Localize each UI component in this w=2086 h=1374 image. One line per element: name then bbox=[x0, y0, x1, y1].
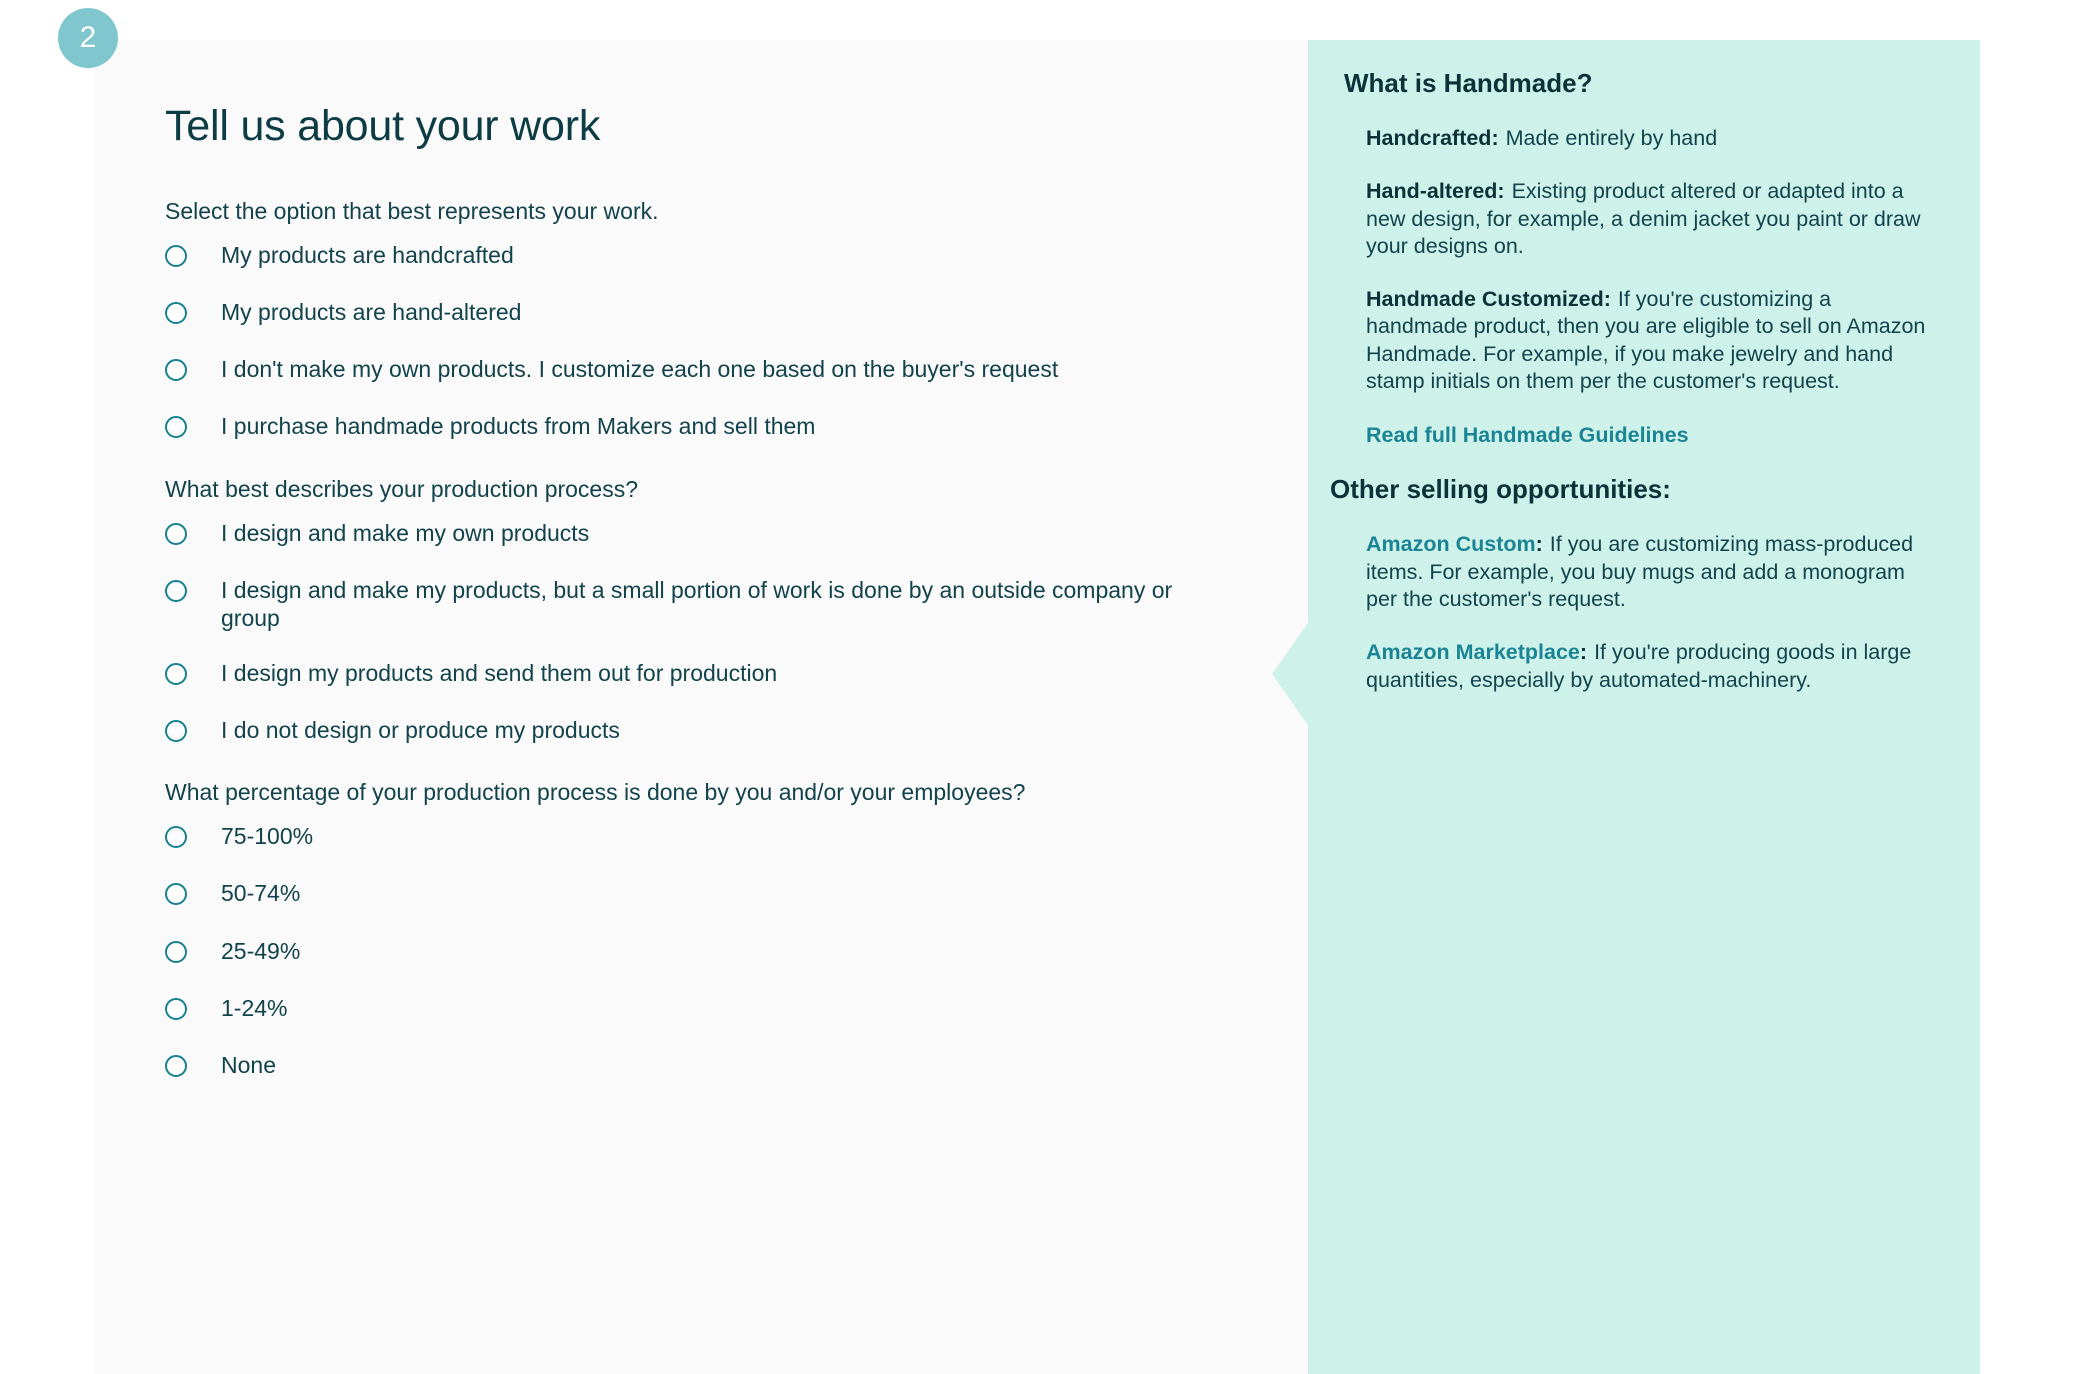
step-number-badge: 2 bbox=[58, 8, 118, 68]
definition-term: Hand-altered: bbox=[1366, 179, 1505, 203]
radio-option-send-out-for-production[interactable]: I design my products and send them out f… bbox=[165, 659, 1308, 687]
radio-option-label: 1-24% bbox=[221, 994, 287, 1022]
radio-option-purchase-from-makers[interactable]: I purchase handmade products from Makers… bbox=[165, 412, 1308, 440]
radio-option-75-100[interactable]: 75-100% bbox=[165, 822, 1308, 850]
radio-option-design-and-make-own[interactable]: I design and make my own products bbox=[165, 519, 1308, 547]
definition-handmade-customized: Handmade Customized:If you're customizin… bbox=[1366, 286, 1926, 395]
radio-option-label: 25-49% bbox=[221, 937, 300, 965]
handmade-guidelines-link[interactable]: Read full Handmade Guidelines bbox=[1366, 423, 1926, 448]
radio-option-outside-company[interactable]: I design and make my products, but a sma… bbox=[165, 576, 1308, 632]
radio-circle-icon[interactable] bbox=[165, 359, 187, 381]
radio-option-label: I do not design or produce my products bbox=[221, 716, 620, 744]
info-panel-heading: What is Handmade? bbox=[1344, 68, 1926, 99]
radio-circle-icon[interactable] bbox=[165, 941, 187, 963]
radio-option-label: None bbox=[221, 1051, 276, 1079]
definition-hand-altered: Hand-altered:Existing product altered or… bbox=[1366, 178, 1926, 260]
other-selling-opportunities-heading: Other selling opportunities: bbox=[1330, 474, 1926, 505]
radio-option-label: I don't make my own products. I customiz… bbox=[221, 355, 1058, 383]
radio-option-none[interactable]: None bbox=[165, 1051, 1308, 1079]
question-label-percentage: What percentage of your production proce… bbox=[165, 779, 1308, 806]
definition-text: Made entirely by hand bbox=[1506, 126, 1718, 150]
radio-circle-icon[interactable] bbox=[165, 1055, 187, 1077]
radio-option-handcrafted[interactable]: My products are handcrafted bbox=[165, 241, 1308, 269]
radio-circle-icon[interactable] bbox=[165, 416, 187, 438]
onboarding-page: Tell us about your work Select the optio… bbox=[0, 0, 2086, 1374]
opportunity-colon: : bbox=[1536, 532, 1543, 556]
radio-option-1-24[interactable]: 1-24% bbox=[165, 994, 1308, 1022]
radio-option-50-74[interactable]: 50-74% bbox=[165, 879, 1308, 907]
radio-option-hand-altered[interactable]: My products are hand-altered bbox=[165, 298, 1308, 326]
opportunity-amazon-marketplace: Amazon Marketplace:If you're producing g… bbox=[1366, 639, 1926, 694]
radio-group-work-type: My products are handcrafted My products … bbox=[165, 241, 1308, 440]
radio-option-label: My products are handcrafted bbox=[221, 241, 514, 269]
radio-circle-icon[interactable] bbox=[165, 826, 187, 848]
radio-option-label: My products are hand-altered bbox=[221, 298, 521, 326]
radio-option-label: I design my products and send them out f… bbox=[221, 659, 777, 687]
radio-option-label: I design and make my products, but a sma… bbox=[221, 576, 1221, 632]
opportunity-colon: : bbox=[1580, 640, 1587, 664]
radio-circle-icon[interactable] bbox=[165, 998, 187, 1020]
callout-pointer-icon bbox=[1272, 620, 1310, 728]
definition-term: Handcrafted: bbox=[1366, 126, 1499, 150]
radio-circle-icon[interactable] bbox=[165, 523, 187, 545]
form-card: Tell us about your work Select the optio… bbox=[95, 40, 1308, 1374]
definition-term: Handmade Customized: bbox=[1366, 287, 1611, 311]
radio-circle-icon[interactable] bbox=[165, 720, 187, 742]
radio-option-label: I purchase handmade products from Makers… bbox=[221, 412, 815, 440]
amazon-marketplace-link[interactable]: Amazon Marketplace bbox=[1366, 640, 1580, 664]
opportunity-amazon-custom: Amazon Custom:If you are customizing mas… bbox=[1366, 531, 1926, 613]
radio-option-label: 75-100% bbox=[221, 822, 313, 850]
page-title: Tell us about your work bbox=[165, 102, 1308, 151]
definition-handcrafted: Handcrafted:Made entirely by hand bbox=[1366, 125, 1926, 152]
radio-option-do-not-design-or-produce[interactable]: I do not design or produce my products bbox=[165, 716, 1308, 744]
question-label-work-type: Select the option that best represents y… bbox=[165, 198, 1308, 225]
radio-group-percentage: 75-100% 50-74% 25-49% 1-24% None bbox=[165, 822, 1308, 1078]
radio-option-label: 50-74% bbox=[221, 879, 300, 907]
radio-circle-icon[interactable] bbox=[165, 245, 187, 267]
radio-circle-icon[interactable] bbox=[165, 302, 187, 324]
amazon-custom-link[interactable]: Amazon Custom bbox=[1366, 532, 1536, 556]
question-label-production-process: What best describes your production proc… bbox=[165, 476, 1308, 503]
radio-group-production-process: I design and make my own products I desi… bbox=[165, 519, 1308, 744]
radio-circle-icon[interactable] bbox=[165, 663, 187, 685]
radio-circle-icon[interactable] bbox=[165, 883, 187, 905]
radio-circle-icon[interactable] bbox=[165, 580, 187, 602]
radio-option-customize-buyer-request[interactable]: I don't make my own products. I customiz… bbox=[165, 355, 1308, 383]
info-panel: What is Handmade? Handcrafted:Made entir… bbox=[1308, 40, 1980, 1374]
radio-option-25-49[interactable]: 25-49% bbox=[165, 937, 1308, 965]
radio-option-label: I design and make my own products bbox=[221, 519, 589, 547]
